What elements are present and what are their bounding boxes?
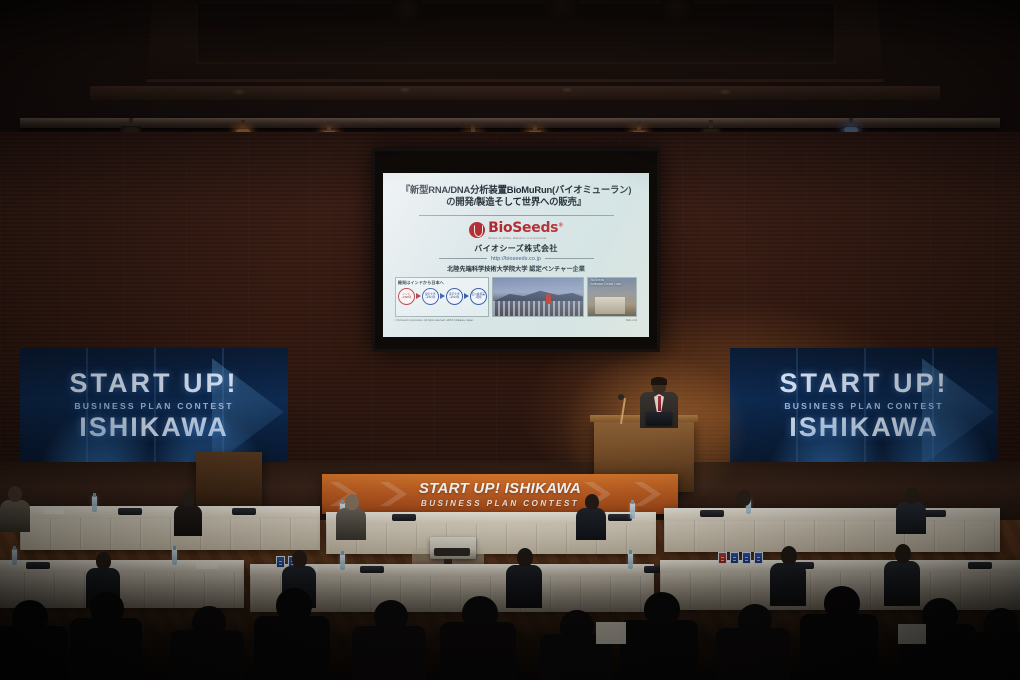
buildings-shape (493, 301, 583, 315)
audience-member (540, 610, 612, 680)
flow-heading: 開発はインドから日本へ (398, 280, 489, 286)
flow-step: 石川県能美 ~現在 (470, 288, 487, 305)
desk-microphone (232, 508, 256, 515)
stage-banner-text: START UP! ISHIKAWA BUSINESS PLAN CONTEST (322, 474, 678, 514)
audience-laptop (898, 624, 926, 644)
desk-microphone (392, 514, 416, 521)
slide-title-line1: 『新型RNA/DNA分析装置BioMuRun(バイオミューラン) (401, 184, 632, 196)
microphone-icon (618, 394, 624, 400)
logo-tagline: Chaos to Order, Random to Functional (488, 236, 546, 240)
laboratory-photo: BioSeeds Ishikawa Create Labo (587, 277, 637, 317)
banner-line1: START UP! (70, 368, 239, 399)
downlight-icon (232, 88, 246, 95)
cityscape-photo (492, 277, 584, 317)
company-url: http://bioseeds.co.jp (491, 256, 541, 262)
banner-line2: BUSINESS PLAN CONTEST (784, 401, 943, 411)
secondary-podium (196, 452, 262, 514)
presenter-laptop (646, 412, 672, 425)
development-flow-panel: 開発はインドから日本へ インド ~1998年 電気大学 ~2004年 (395, 277, 490, 317)
bioseeds-logo-mark-icon (469, 222, 485, 238)
arrow-right-icon (440, 293, 445, 299)
slide-number: Slide 1/14 (626, 319, 638, 322)
company-name-jp: バイオシーズ株式会社 (474, 243, 558, 254)
banner-line3: ISHIKAWA (79, 412, 229, 443)
desk-microphone (118, 508, 142, 515)
banner-right-text: START UP! BUSINESS PLAN CONTEST ISHIKAWA (730, 368, 998, 443)
conference-hall-photo: 『新型RNA/DNA分析装置BioMuRun(バイオミューラン) の開発/製造そ… (0, 0, 1020, 680)
audience-member (352, 600, 426, 680)
flow-step-sub: ~現在 (475, 296, 482, 299)
slide-title: 『新型RNA/DNA分析装置BioMuRun(バイオミューラン) の開発/製造そ… (401, 184, 632, 209)
audience-member (800, 586, 878, 680)
flow-step-sub: ~2013年 (449, 296, 459, 299)
audience-member (716, 604, 790, 680)
attendee (896, 488, 926, 534)
projection-screen: 『新型RNA/DNA分析装置BioMuRun(バイオミューラン) の開発/製造そ… (372, 148, 660, 352)
logo-word-text: BioSeeds (488, 220, 558, 236)
audience-member (966, 608, 1020, 680)
attendee (576, 494, 606, 540)
slide-title-line2: の開発/製造そして世界への販売』 (401, 196, 632, 208)
arrow-right-icon (464, 293, 469, 299)
coffer-edge (90, 86, 940, 100)
slide-bottom-panels: 開発はインドから日本へ インド ~1998年 電気大学 ~2004年 (395, 277, 638, 317)
attendee (0, 486, 30, 532)
audience-laptop (596, 622, 626, 644)
certification-line: 北陸先端科学技術大学院大学 認定ベンチャー企業 (447, 264, 585, 273)
judges-table-back-left (20, 506, 320, 550)
flow-step: インド ~1998年 (398, 288, 415, 305)
desk-microphone (700, 510, 724, 517)
logo-wordmark: BioSeeds® (488, 221, 563, 235)
audience-member (0, 600, 68, 680)
presentation-slide: 『新型RNA/DNA分析装置BioMuRun(バイオミューラン) の開発/製造そ… (383, 173, 649, 337)
company-url-row: http://bioseeds.co.jp (439, 256, 594, 262)
slide-divider (419, 215, 614, 216)
flow-step-sub: ~1998年 (401, 296, 411, 299)
slide-copyright: © BioSeeds Corporation. All rights reser… (395, 319, 474, 322)
arrow-right-icon (416, 293, 421, 299)
lab-building-shape (595, 297, 625, 314)
document-paper (44, 509, 64, 514)
water-bottle (92, 496, 97, 512)
audience-member (70, 592, 142, 680)
attendee (174, 492, 202, 536)
water-bottle (630, 503, 635, 519)
stage-banner-line1: START UP! ISHIKAWA (419, 480, 581, 497)
banner-line1: START UP! (780, 368, 949, 399)
downlight-icon (398, 86, 412, 93)
lab-caption-line2: Ishikawa Create Labo (590, 283, 621, 287)
desk-microphone (608, 514, 632, 521)
ceiling-coffer-inner (196, 4, 836, 64)
mountain-shape (493, 288, 583, 301)
stage-banner-line2: BUSINESS PLAN CONTEST (421, 499, 579, 508)
flow-diagram: インド ~1998年 電気大学 ~2004年 東京大学 ~2 (398, 288, 489, 305)
url-rule-right (545, 258, 593, 259)
banner-right: START UP! BUSINESS PLAN CONTEST ISHIKAWA (730, 348, 998, 476)
projector (430, 537, 476, 559)
attendee (336, 494, 366, 540)
banner-left-text: START UP! BUSINESS PLAN CONTEST ISHIKAWA (20, 368, 288, 443)
banner-line2: BUSINESS PLAN CONTEST (74, 401, 233, 411)
presenter-tie (658, 396, 662, 411)
audience-member (440, 596, 516, 680)
stage-front-banner: START UP! ISHIKAWA BUSINESS PLAN CONTEST (322, 474, 678, 514)
banner-line3: ISHIKAWA (789, 412, 939, 443)
lab-photo-caption: BioSeeds Ishikawa Create Labo (590, 279, 621, 287)
url-rule-left (439, 258, 487, 259)
judges-table-back-center (326, 512, 656, 554)
attendee (728, 490, 758, 536)
downlight-icon (718, 88, 732, 95)
audience-member (170, 606, 244, 680)
presenter-hair (651, 377, 667, 385)
audience-member (254, 588, 330, 680)
bioseeds-logo: BioSeeds® Chaos to Order, Random to Func… (469, 221, 563, 240)
screen-surface: 『新型RNA/DNA分析装置BioMuRun(バイオミューラン) の開発/製造そ… (383, 173, 649, 337)
downlight-icon (560, 86, 574, 93)
flow-step-sub: ~2004年 (425, 296, 435, 299)
audience-member (620, 592, 698, 680)
slide-footer: © BioSeeds Corporation. All rights reser… (395, 319, 638, 322)
flow-step: 電気大学 ~2004年 (422, 288, 439, 305)
flow-step: 東京大学 ~2013年 (446, 288, 463, 305)
red-tower-marker (546, 294, 551, 304)
registered-mark: ® (558, 222, 563, 228)
